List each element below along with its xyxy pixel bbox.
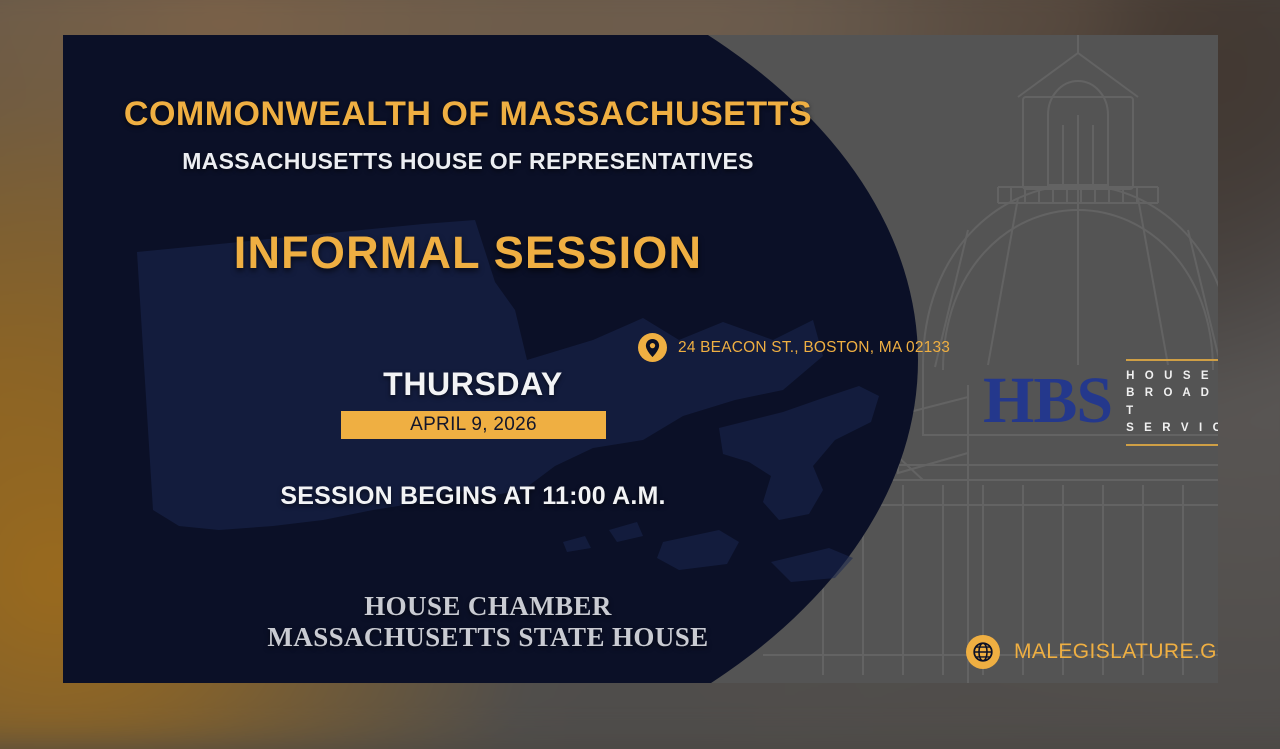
hbs-word-services: S E R V I C E S — [1126, 420, 1218, 437]
session-type-title: INFORMAL SESSION — [88, 227, 848, 279]
globe-icon — [966, 635, 1000, 669]
hbs-rule-bottom — [1126, 444, 1218, 446]
venue-line-1: HOUSE CHAMBER — [143, 591, 833, 622]
session-date-badge: APRIL 9, 2026 — [341, 411, 606, 439]
hbs-word-house: H O U S E — [1126, 368, 1218, 385]
location-pin-icon — [638, 333, 667, 362]
website-text: MALEGISLATURE.GOV — [1014, 640, 1218, 664]
address-text: 24 BEACON ST., BOSTON, MA 02133 — [678, 339, 950, 357]
hbs-wordmark: H O U S E B R O A D C A S T S E R V I C … — [1126, 357, 1218, 446]
session-weekday: THURSDAY — [273, 366, 673, 403]
venue-line-2: MASSACHUSETTS STATE HOUSE — [143, 622, 833, 653]
address-row: 24 BEACON ST., BOSTON, MA 02133 — [638, 333, 950, 362]
venue-block: HOUSE CHAMBER MASSACHUSETTS STATE HOUSE — [143, 591, 833, 654]
session-start-time: SESSION BEGINS AT 11:00 A.M. — [123, 482, 823, 511]
session-date-text: APRIL 9, 2026 — [410, 414, 537, 436]
session-slide-card: COMMONWEALTH OF MASSACHUSETTS MASSACHUSE… — [63, 35, 1218, 683]
subtitle-house-of-representatives: MASSACHUSETTS HOUSE OF REPRESENTATIVES — [88, 148, 848, 175]
hbs-words: H O U S E B R O A D C A S T S E R V I C … — [1126, 361, 1218, 444]
hbs-monogram: HBS — [983, 368, 1112, 434]
hbs-logo: HBS H O U S E B R O A D C A S T S E R V … — [983, 357, 1218, 446]
hbs-word-broadcast: B R O A D C A S T — [1126, 385, 1218, 420]
website-row[interactable]: MALEGISLATURE.GOV — [966, 635, 1218, 669]
slide-content: COMMONWEALTH OF MASSACHUSETTS MASSACHUSE… — [63, 35, 1218, 683]
page-title-commonwealth: COMMONWEALTH OF MASSACHUSETTS — [88, 95, 848, 134]
